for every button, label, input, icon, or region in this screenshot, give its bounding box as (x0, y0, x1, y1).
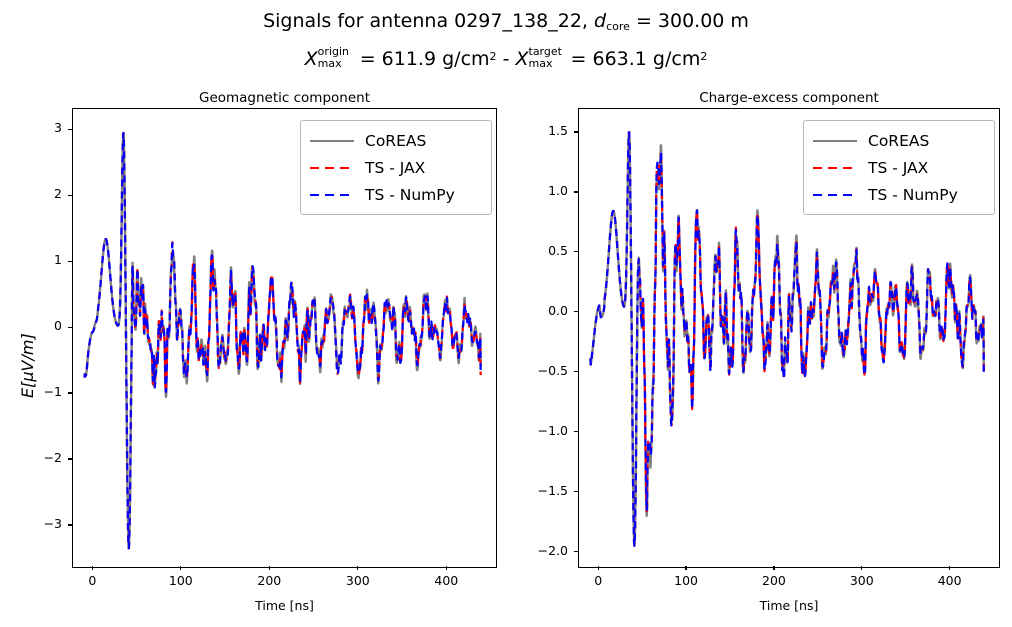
x-tick-label: 100 (656, 573, 716, 588)
legend-swatch-icon (310, 161, 354, 175)
legend-swatch-icon (813, 188, 857, 202)
y-tick-label: −2.0 (508, 543, 568, 558)
x-tick-label: 0 (62, 573, 122, 588)
x-axis-label-geomagnetic: Time [ns] (72, 598, 497, 613)
x-tick-label: 400 (920, 573, 980, 588)
y-tick-label: −2 (2, 450, 62, 465)
x-tickmark (773, 566, 774, 570)
legend-swatch-icon (813, 134, 857, 148)
xmax-target-unit-exp: 2 (700, 50, 707, 63)
legend-entry-ts-jax[interactable]: TS - JAX (310, 154, 482, 181)
y-tickmark (574, 311, 578, 312)
y-tick-label: −1.5 (508, 483, 568, 498)
xmax-target-subscript: max (529, 49, 553, 79)
xmax-origin-value: = 611.9 g/cm (354, 48, 490, 70)
y-tickmark (68, 129, 72, 130)
legend-label: TS - JAX (868, 159, 928, 177)
x-tickmark (685, 566, 686, 570)
panel-title-geomagnetic: Geomagnetic component (72, 90, 497, 106)
figure-title-line2: Xoriginmax = 611.9 g/cm2 - Xtargetmax = … (0, 42, 1012, 74)
y-tick-label: 0.5 (508, 243, 568, 258)
xmax-origin-unit-exp: 2 (490, 50, 497, 63)
y-tick-label: −1 (2, 384, 62, 399)
y-tick-label: 3 (2, 120, 62, 135)
xmax-target-value: = 663.1 g/cm (565, 48, 701, 70)
x-tickmark (269, 566, 270, 570)
x-tickmark (357, 566, 358, 570)
x-tickmark (180, 566, 181, 570)
x-tickmark (92, 566, 93, 570)
x-tick-label: 200 (239, 573, 299, 588)
y-tick-label: 0.0 (508, 303, 568, 318)
legend-label: TS - JAX (365, 159, 425, 177)
y-tick-label: −1.0 (508, 423, 568, 438)
legend-entry-coreas[interactable]: CoREAS (813, 127, 985, 154)
legend-geomagnetic: CoREASTS - JAXTS - NumPy (300, 120, 492, 215)
y-tickmark (68, 261, 72, 262)
y-tickmark (68, 392, 72, 393)
panel-title-charge-excess: Charge-excess component (578, 90, 1000, 106)
y-tickmark (574, 551, 578, 552)
y-tickmark (68, 327, 72, 328)
title-separator: - (497, 48, 516, 70)
y-tick-label: 1.0 (508, 183, 568, 198)
legend-swatch-icon (310, 134, 354, 148)
legend-charge-excess: CoREASTS - JAXTS - NumPy (803, 120, 995, 215)
xmax-target-symbol: X (515, 48, 528, 70)
x-tick-label: 200 (744, 573, 804, 588)
legend-entry-ts-numpy[interactable]: TS - NumPy (813, 181, 985, 208)
y-tick-label: 0 (2, 318, 62, 333)
y-tick-label: 1 (2, 252, 62, 267)
y-tick-label: −0.5 (508, 363, 568, 378)
x-tickmark (598, 566, 599, 570)
x-tickmark (861, 566, 862, 570)
legend-entry-ts-jax[interactable]: TS - JAX (813, 154, 985, 181)
x-tick-label: 0 (568, 573, 628, 588)
dcore-symbol: d (594, 10, 606, 32)
y-tickmark (574, 431, 578, 432)
x-tickmark (446, 566, 447, 570)
x-tickmark (949, 566, 950, 570)
y-tickmark (574, 131, 578, 132)
y-tick-label: 1.5 (508, 123, 568, 138)
xmax-origin-scripts: originmax (318, 44, 354, 63)
xmax-origin-symbol: X (305, 48, 318, 70)
x-tick-label: 300 (328, 573, 388, 588)
y-tick-label: 2 (2, 186, 62, 201)
dcore-value: = 300.00 m (630, 10, 749, 32)
title-prefix: Signals for antenna (263, 10, 454, 32)
x-tick-label: 100 (151, 573, 211, 588)
legend-swatch-icon (310, 188, 354, 202)
legend-entry-ts-numpy[interactable]: TS - NumPy (310, 181, 482, 208)
x-tick-label: 400 (416, 573, 476, 588)
antenna-id: 0297_138_22 (454, 10, 582, 32)
y-tickmark (68, 195, 72, 196)
legend-label: TS - NumPy (868, 186, 958, 204)
legend-label: TS - NumPy (365, 186, 455, 204)
y-tickmark (574, 491, 578, 492)
y-tickmark (574, 251, 578, 252)
figure-title: Signals for antenna 0297_138_22, dcore =… (0, 6, 1012, 74)
y-tickmark (68, 458, 72, 459)
figure-title-line1: Signals for antenna 0297_138_22, dcore =… (263, 10, 749, 32)
y-tick-label: −3 (2, 516, 62, 531)
x-axis-label-charge-excess: Time [ns] (578, 598, 1000, 613)
legend-swatch-icon (813, 161, 857, 175)
title-comma: , (582, 10, 594, 32)
legend-entry-coreas[interactable]: CoREAS (310, 127, 482, 154)
y-tickmark (574, 371, 578, 372)
x-tick-label: 300 (832, 573, 892, 588)
legend-label: CoREAS (365, 132, 426, 150)
y-tickmark (68, 524, 72, 525)
dcore-subscript: core (606, 20, 630, 33)
xmax-origin-subscript: max (318, 49, 342, 79)
y-tickmark (574, 191, 578, 192)
xmax-target-scripts: targetmax (529, 44, 565, 63)
legend-label: CoREAS (868, 132, 929, 150)
